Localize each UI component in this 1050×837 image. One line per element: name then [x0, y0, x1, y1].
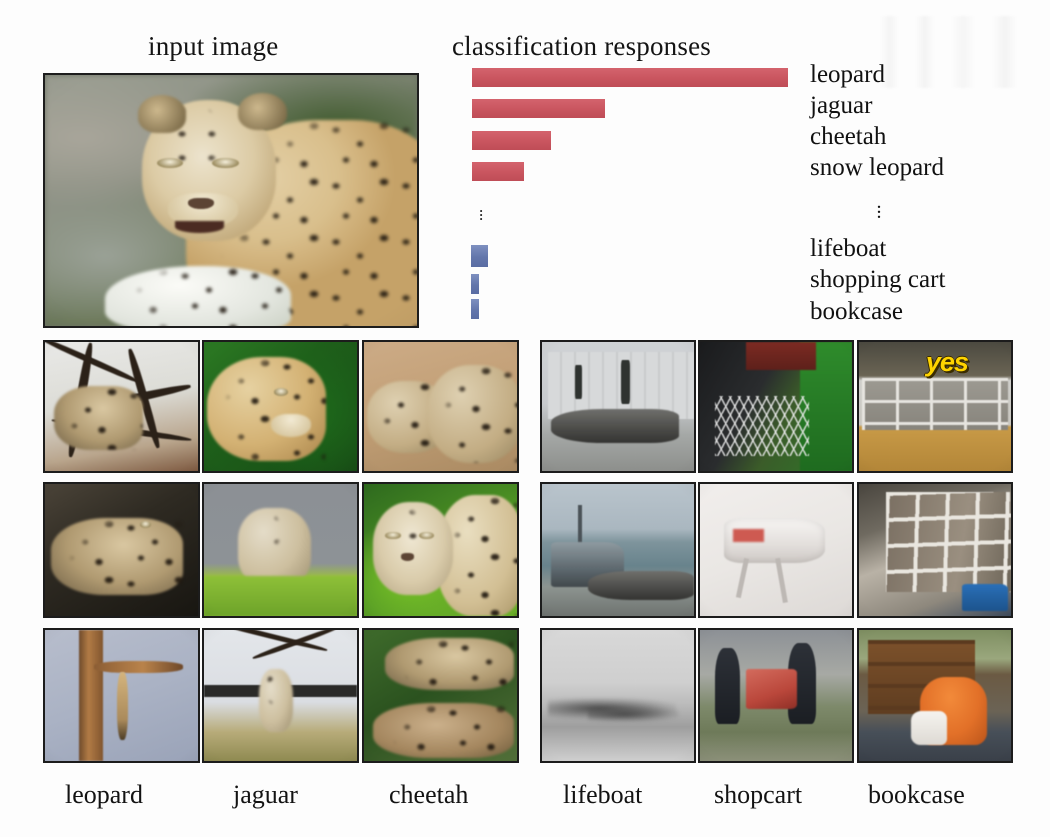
bar-leopard: [472, 68, 788, 87]
background-watermark: [880, 16, 1040, 88]
gallery-cell-shopcart-r1: [698, 340, 854, 473]
figure-root: input image classification responses .: [0, 0, 1050, 837]
gallery-cell-lifeboat-r1: [540, 340, 696, 473]
gallery-cell-bookcase-r3: [857, 628, 1013, 763]
gallery-cell-bookcase-r1: yes: [857, 340, 1013, 473]
bar-lifeboat: [471, 245, 488, 267]
input-image: [43, 73, 419, 328]
bar-bookcase: [471, 299, 479, 319]
category-label-bookcase: bookcase: [868, 780, 965, 810]
bar-ellipsis-marker: ...: [479, 205, 483, 217]
gallery-cell-shopcart-r2: [698, 482, 854, 618]
gallery-cell-lifeboat-r3: [540, 628, 696, 763]
gallery-cell-cheetah-r1: [362, 340, 519, 473]
class-label-lifeboat: lifeboat: [810, 236, 886, 261]
gallery-cell-leopard-r2: [43, 482, 200, 618]
gallery-cell-jaguar-r2: [202, 482, 359, 618]
category-label-jaguar: jaguar: [233, 780, 298, 810]
gallery-cell-shopcart-r3: [698, 628, 854, 763]
class-label-shopping-cart: shopping cart: [810, 267, 945, 292]
gallery-cell-leopard-r3: [43, 628, 200, 763]
class-label-ellipsis: ...: [872, 200, 886, 215]
gallery-cell-jaguar-r3: [202, 628, 359, 763]
class-label-jaguar: jaguar: [810, 93, 872, 118]
category-label-shopcart: shopcart: [714, 780, 802, 810]
input-image-title: input image: [148, 31, 278, 62]
gallery-cell-lifeboat-r2: [540, 482, 696, 618]
bar-jaguar: [472, 99, 605, 118]
category-label-lifeboat: lifeboat: [563, 780, 642, 810]
class-label-snow-leopard: snow leopard: [810, 155, 944, 180]
category-label-cheetah: cheetah: [389, 780, 468, 810]
classification-responses-title: classification responses: [452, 31, 711, 62]
input-image-photo-leopard: [45, 75, 417, 326]
class-label-bookcase: bookcase: [810, 299, 903, 324]
gallery-cell-cheetah-r2: [362, 482, 519, 618]
yes-overlay-text: yes: [926, 347, 968, 378]
class-label-leopard: leopard: [810, 62, 885, 87]
gallery-cell-leopard-r1: [43, 340, 200, 473]
gallery-cell-cheetah-r3: [362, 628, 519, 763]
gallery-cell-jaguar-r1: [202, 340, 359, 473]
bar-snow-leopard: [472, 162, 524, 181]
bar-cheetah: [472, 131, 551, 150]
gallery-cell-bookcase-r2: [857, 482, 1013, 618]
class-label-cheetah: cheetah: [810, 124, 886, 149]
category-label-leopard: leopard: [65, 780, 143, 810]
bar-shopping-cart: [471, 274, 479, 294]
